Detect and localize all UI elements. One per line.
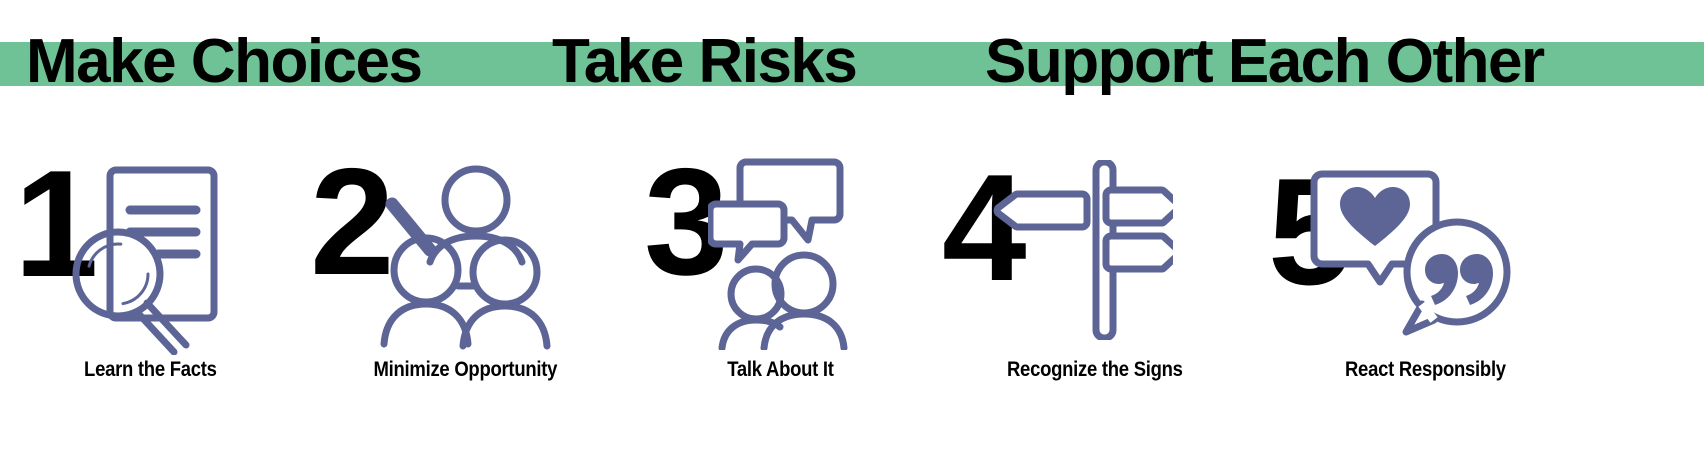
document-magnifier-icon: [58, 160, 228, 355]
step-item-4: 4 Recognize the Signs: [930, 130, 1260, 468]
heading-support-each-other: Support Each Other: [985, 22, 1544, 102]
steps-row: 1 Learn the Facts: [0, 130, 1704, 468]
step-3-label: Talk About It: [727, 358, 833, 382]
infographic-poster: Make Choices Take Risks Support Each Oth…: [0, 0, 1704, 468]
step-item-2: 2: [300, 130, 630, 468]
step-item-5: 5 React: [1260, 130, 1590, 468]
step-1-label: Learn the Facts: [84, 358, 217, 382]
step-5-label: React Responsibly: [1345, 358, 1506, 382]
heading-take-risks: Take Risks: [552, 22, 856, 102]
step-2-label: Minimize Opportunity: [373, 358, 557, 382]
heart-bubble-quote-icon: [1310, 168, 1515, 338]
step-4-artwork: 4: [930, 130, 1260, 358]
step-4-label: Recognize the Signs: [1007, 358, 1183, 382]
step-item-3: 3: [630, 130, 930, 468]
step-item-1: 1 Learn the Facts: [0, 130, 300, 468]
quote-bubble-icon: [1406, 222, 1507, 332]
speech-bubbles-two-people-icon: [708, 152, 873, 350]
step-3-artwork: 3: [630, 130, 930, 358]
step-5-artwork: 5: [1260, 130, 1590, 358]
three-people-raised-hand-icon: [368, 158, 558, 353]
step-1-artwork: 1: [0, 130, 300, 358]
heading-make-choices: Make Choices: [26, 22, 422, 102]
step-2-artwork: 2: [300, 130, 630, 358]
signpost-arrows-icon: [988, 160, 1173, 340]
header-band: Make Choices Take Risks Support Each Oth…: [0, 0, 1704, 120]
